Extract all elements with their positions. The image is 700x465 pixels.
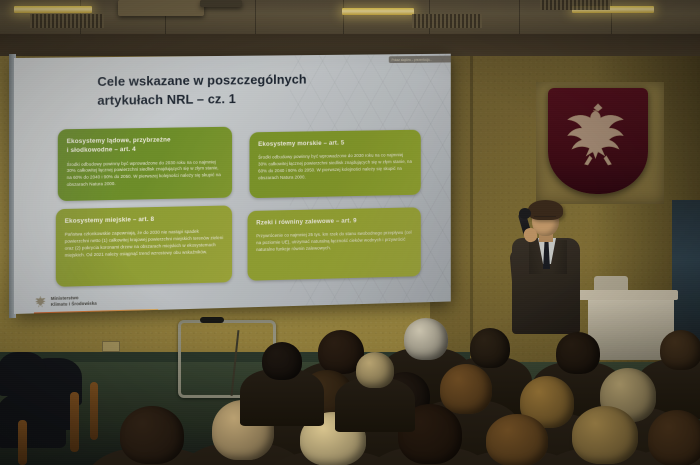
slide-surface: Pokaz slajdów – prezentacja... Cele wska… [14, 54, 451, 314]
audience-member-head [404, 318, 448, 360]
box-rivers-heading: Rzeki i równiny zalewowe – art. 9 [256, 215, 412, 228]
ministry-logo-text: Ministerstwo Klimatu i Środowiska [51, 295, 97, 308]
audience-member-head [660, 330, 700, 370]
box-urban-heading: Ekosystemy miejskie – art. 8 [65, 213, 224, 226]
slide-title-line2: artykułach NRL – cz. 1 [97, 89, 349, 111]
presenter-table-top [578, 290, 678, 300]
chair-armrest [70, 392, 79, 452]
wall-socket [102, 341, 120, 352]
box-urban-body: Państwa członkowskie zapewniają, że do 2… [65, 229, 224, 260]
slide-box-urban-ecosystems: Ekosystemy miejskie – art. 8 Państwa czł… [56, 205, 232, 286]
speaker-glasses [534, 216, 556, 221]
equipment-stand-device [200, 317, 224, 323]
audience-member-head [572, 406, 638, 464]
audience-member-head [440, 364, 492, 414]
ceiling-downlight [436, 20, 450, 28]
audience-member-head [648, 410, 700, 465]
ceiling-vent [540, 0, 610, 10]
slide-box-marine-ecosystems: Ekosystemy morskie – art. 5 Środki odbud… [249, 130, 420, 199]
microphone-head [519, 208, 531, 219]
slideshow-toolbar[interactable]: Pokaz slajdów – prezentacja... [389, 55, 451, 63]
audience-member-head [486, 414, 548, 465]
audience-member-head [356, 352, 394, 388]
box-marine-body: Środki odbudowy powinny być wprowadzone … [258, 152, 412, 181]
ministry-name-line2: Klimatu i Środowiska [51, 301, 97, 308]
ceiling-projector-mount [200, 0, 242, 7]
presentation-photo: Pokaz slajdów – prezentacja... Cele wska… [0, 0, 700, 465]
audience-member-head [120, 406, 184, 464]
audience-member-head [470, 328, 510, 368]
box-marine-heading: Ekosystemy morskie – art. 5 [258, 138, 412, 150]
audience-member-head [262, 342, 302, 380]
ceiling-vent [30, 14, 104, 28]
box-land-body: Środki odbudowy powinny być wprowadzone … [67, 159, 224, 189]
ceiling-light-panel [342, 8, 414, 15]
ceiling-projector [118, 0, 204, 16]
polish-eagle-logo-icon [34, 295, 47, 309]
chair [0, 352, 46, 396]
polish-eagle-icon [556, 96, 640, 182]
slide-box-rivers-floodplains: Rzeki i równiny zalewowe – art. 9 Przywr… [248, 207, 421, 280]
ceiling [0, 0, 700, 34]
slide-title: Cele wskazane w poszczególnych artykułac… [97, 70, 349, 110]
ceiling-light-panel [14, 6, 92, 13]
chair-armrest [18, 420, 27, 465]
audience-member-head [556, 332, 600, 374]
slide-box-land-ecosystems: Ekosystemy lądowe, przybrzeżne i słodkow… [58, 127, 232, 201]
box-land-heading-line2: i słodkowodne – art. 4 [67, 144, 224, 156]
projection-screen: Pokaz slajdów – prezentacja... Cele wska… [14, 54, 451, 314]
wall-corner [470, 56, 473, 356]
ceiling-downlight [2, 22, 16, 30]
slideshow-toolbar-label: Pokaz slajdów – prezentacja... [392, 57, 433, 61]
window [672, 200, 700, 350]
box-rivers-body: Przywrócenie co najmniej 25 tys. km rzek… [256, 230, 412, 254]
chair-armrest [90, 382, 98, 440]
